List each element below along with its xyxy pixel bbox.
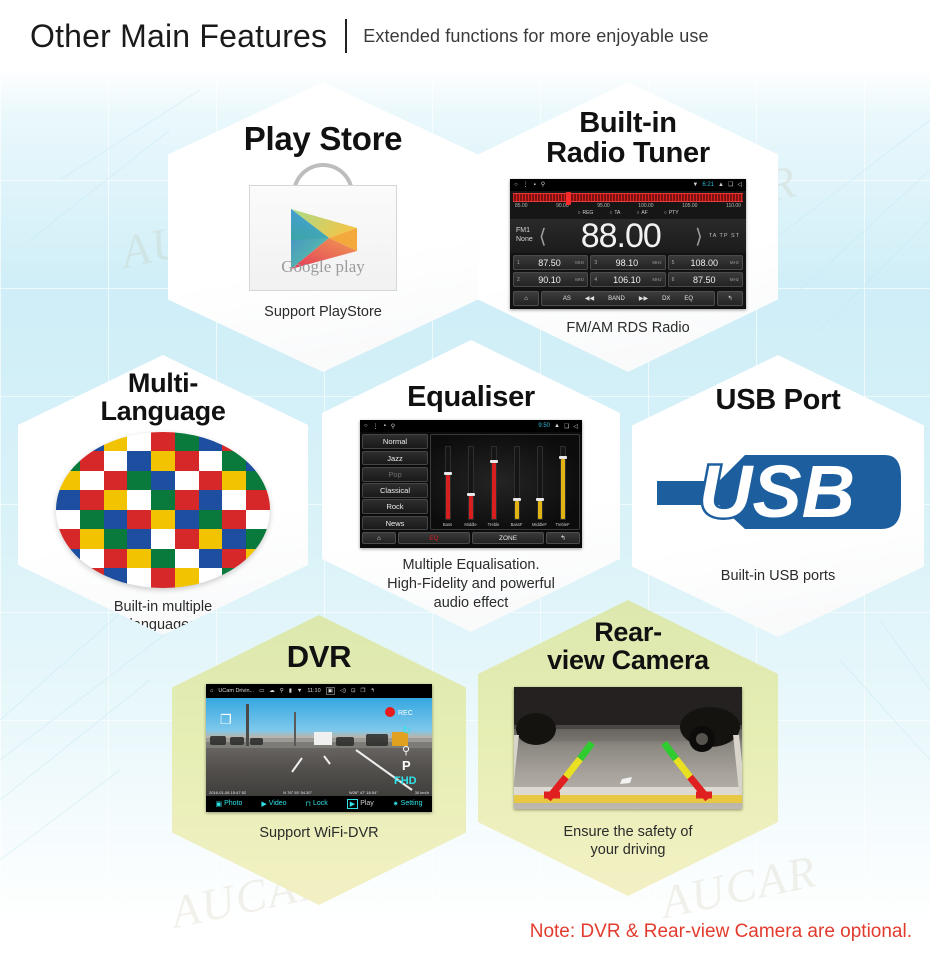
page-header: Other Main Features Extended functions f… bbox=[0, 0, 930, 72]
radio-status-bar: ○ ⋮ ▪ ⚲ ▼ 6:21 ▲ ❑ ◁ bbox=[510, 179, 746, 191]
equaliser-caption-line1: Multiple Equalisation. bbox=[387, 556, 555, 575]
sd-card-icon: ▪ bbox=[384, 423, 386, 429]
dvr-telemetry: 2016-01-08 15:47:52 N 78° 55' 54.30" W26… bbox=[209, 790, 429, 795]
back-icon[interactable]: ↰ bbox=[546, 532, 580, 544]
radio-title-line1: Built-in bbox=[546, 108, 710, 138]
rec-label: REC bbox=[398, 710, 413, 717]
dx-button[interactable]: DX bbox=[662, 296, 670, 302]
eq-preset-news[interactable]: News bbox=[362, 516, 428, 531]
eq-preset-jazz[interactable]: Jazz bbox=[362, 451, 428, 466]
sd-card-icon: ▪ bbox=[534, 182, 536, 188]
dvr-setting-label: Setting bbox=[401, 800, 423, 807]
preset-index: 4 bbox=[594, 277, 601, 283]
radio-title: Built-in Radio Tuner bbox=[546, 108, 710, 169]
rear-camera-title-line2: view Camera bbox=[547, 646, 709, 674]
menu-dots-icon: ⋮ bbox=[523, 181, 529, 188]
home-icon[interactable]: ⌂ bbox=[362, 532, 396, 544]
dvr-video-label: Video bbox=[269, 800, 287, 807]
preset-button[interactable]: 4 106.10 MHz bbox=[590, 272, 665, 287]
eq-slider-fill bbox=[446, 475, 450, 520]
park-mode-label: P bbox=[402, 758, 411, 773]
eq-slider[interactable]: Bass bbox=[442, 446, 453, 527]
back-nav-icon: ◁ bbox=[573, 423, 578, 430]
eq-slider-knob[interactable] bbox=[513, 498, 521, 501]
dvr-top-bar[interactable]: ⌂ UCam Drivin... ▭ ☁ ⚲ ▮ ▼ 11:10 ▣ ◁) ⊡ … bbox=[206, 684, 432, 698]
play-store-title: Play Store bbox=[244, 122, 402, 157]
radio-caption: FM/AM RDS Radio bbox=[566, 319, 689, 338]
footer-note: Note: DVR & Rear-view Camera are optiona… bbox=[530, 921, 912, 943]
usb-wordmark: USB bbox=[699, 450, 855, 533]
bluetooth-icon: ⚲ bbox=[391, 423, 395, 430]
preset-value: 87.50 bbox=[679, 275, 730, 285]
eq-slider[interactable]: BassF bbox=[511, 446, 522, 527]
feature-card-equaliser[interactable]: Equaliser ○ ⋮ ▪ ⚲ 9:50 ▲ ❑ ◁ Normal Jazz… bbox=[322, 340, 620, 632]
dvr-lock-label: Lock bbox=[313, 800, 328, 807]
preset-index: 5 bbox=[672, 260, 679, 266]
rear-camera-scene bbox=[514, 687, 742, 809]
recent-apps-icon: ❑ bbox=[564, 423, 569, 430]
parked-car-left bbox=[516, 713, 556, 745]
feature-card-rear-camera[interactable]: Rear- view Camera bbox=[478, 600, 778, 896]
multi-language-title: Multi- Language bbox=[100, 369, 225, 426]
usb-port-title: USB Port bbox=[716, 385, 841, 415]
google-play-wordmark: Google play bbox=[245, 257, 401, 277]
equaliser-clock: 9:50 bbox=[538, 423, 550, 429]
radio-station-name: None bbox=[516, 236, 533, 245]
equaliser-caption-line3: audio effect bbox=[387, 594, 555, 613]
eq-slider-label: BassF bbox=[511, 522, 523, 527]
radio-toolbar-center[interactable]: AS ◀◀ BAND ▶▶ DX EQ bbox=[541, 291, 715, 306]
dvr-play-label: Play bbox=[360, 800, 374, 807]
radio-band-info: FM1 None bbox=[516, 227, 533, 245]
circle-icon: ○ bbox=[364, 423, 368, 429]
scale-label: 95.00 bbox=[597, 203, 610, 209]
dvr-photo-button[interactable]: ▣ Photo bbox=[215, 800, 242, 808]
dvr-photo-label: Photo bbox=[224, 800, 242, 807]
flag-globe-icon bbox=[56, 432, 270, 588]
band-button[interactable]: BAND bbox=[608, 296, 625, 302]
rds-option-ta[interactable]: TA bbox=[609, 210, 620, 216]
multi-language-caption-line2: languages bbox=[114, 616, 212, 635]
back-icon[interactable]: ↰ bbox=[717, 291, 743, 306]
back-nav-icon: ◁ bbox=[737, 181, 742, 188]
preset-value: 87.50 bbox=[524, 258, 575, 268]
eq-button[interactable]: EQ bbox=[684, 296, 693, 302]
eq-slider-knob[interactable] bbox=[444, 472, 452, 475]
equaliser-toolbar[interactable]: ⌂ EQ ZONE ↰ bbox=[360, 532, 582, 546]
video-icon: ▶ bbox=[261, 800, 266, 808]
eq-slider-fill bbox=[492, 463, 496, 519]
up-arrow-icon: ▲ bbox=[718, 182, 724, 188]
camera-icon: ▣ bbox=[215, 800, 222, 808]
feature-card-play-store[interactable]: Play Store bbox=[168, 82, 478, 372]
mic-icon: ⚲ bbox=[280, 688, 284, 694]
prev-station-icon[interactable]: ◀◀ bbox=[585, 295, 594, 302]
preset-unit: MHz bbox=[575, 260, 584, 265]
radio-frequency-display: FM1 None ⟨ 88.00 ⟩ TA TP ST bbox=[510, 219, 746, 254]
rds-option-reg[interactable]: REG bbox=[577, 210, 593, 216]
loop-record-icon: ↻ bbox=[402, 725, 411, 737]
zone-tab-button[interactable]: ZONE bbox=[472, 532, 544, 544]
back-icon[interactable]: ↰ bbox=[370, 688, 375, 694]
lock-icon: ⊓ bbox=[306, 800, 311, 808]
up-arrow-icon: ▲ bbox=[554, 423, 560, 429]
play-icon: ▶ bbox=[347, 799, 358, 809]
eq-slider-fill bbox=[469, 496, 473, 520]
scale-bar[interactable] bbox=[513, 193, 743, 202]
mic-record-icon: ⚲ bbox=[402, 745, 410, 757]
scale-label: 100.00 bbox=[638, 203, 653, 209]
scale-number-row: 85.00 90.00 95.00 100.00 105.00 110.00 bbox=[513, 202, 743, 209]
feature-card-radio[interactable]: Built-in Radio Tuner ○ ⋮ ▪ ⚲ ▼ 6:21 ▲ ❑ … bbox=[478, 82, 778, 372]
home-icon[interactable]: ⌂ bbox=[210, 688, 213, 694]
eq-slider-fill bbox=[561, 459, 565, 519]
tune-down-icon[interactable]: ⟨ bbox=[539, 224, 547, 249]
equaliser-status-right: 9:50 ▲ ❑ ◁ bbox=[538, 423, 578, 430]
preset-button[interactable]: 5 108.00 MHz bbox=[668, 255, 743, 270]
eq-slider-label: Middle bbox=[464, 522, 476, 527]
wifi-icon: ▼ bbox=[692, 182, 698, 188]
scale-label: 110.00 bbox=[726, 203, 741, 209]
eq-slider-label: Bass bbox=[443, 522, 452, 527]
feature-card-usb-port[interactable]: USB Port USB Built-in USB ports bbox=[632, 355, 924, 637]
radio-preset-grid[interactable]: 1 87.50 MHz 3 98.10 MHz 5 108.00 MHz 2 9… bbox=[510, 253, 746, 289]
equaliser-caption: Multiple Equalisation. High-Fidelity and… bbox=[387, 556, 555, 612]
rec-indicator-dot bbox=[385, 707, 395, 717]
usb-logo-svg: USB bbox=[649, 437, 907, 549]
feature-card-dvr[interactable]: DVR ⌂ UCam Drivin... ▭ ☁ ⚲ ▮ ▼ 11:10 ▣ ◁… bbox=[172, 615, 466, 905]
cloud-icon: ☁ bbox=[269, 688, 275, 694]
equaliser-status-bar: ○ ⋮ ▪ ⚲ 9:50 ▲ ❑ ◁ bbox=[360, 420, 582, 432]
play-store-bag-icon: Google play bbox=[245, 163, 401, 291]
radio-frequency-value: 88.00 bbox=[553, 221, 689, 252]
eq-slider-knob[interactable] bbox=[536, 498, 544, 501]
eq-slider-label: TrebleF bbox=[555, 522, 569, 527]
eq-slider[interactable]: MiddleF bbox=[534, 446, 545, 527]
gear-icon: ✷ bbox=[393, 800, 399, 808]
dvr-clock: 11:10 bbox=[307, 688, 320, 694]
preset-value: 98.10 bbox=[601, 258, 652, 268]
dvr-caption: Support WiFi-DVR bbox=[259, 824, 378, 843]
circle-icon: ○ bbox=[514, 182, 518, 188]
eq-preset-rock[interactable]: Rock bbox=[362, 499, 428, 514]
gallery-icon[interactable]: ❐ bbox=[361, 688, 366, 694]
bluetooth-icon: ⚲ bbox=[541, 181, 545, 188]
preset-index: 1 bbox=[517, 260, 524, 266]
preset-value: 90.10 bbox=[524, 275, 575, 285]
rear-camera-title-line1: Rear- bbox=[547, 618, 709, 646]
pip-window-icon: ❐ bbox=[220, 712, 232, 727]
radio-band: FM1 bbox=[516, 227, 533, 236]
rear-camera-title: Rear- view Camera bbox=[547, 618, 709, 675]
preset-value: 106.10 bbox=[601, 275, 652, 285]
preset-unit: MHz bbox=[652, 260, 661, 265]
preset-button[interactable]: 1 87.50 MHz bbox=[513, 255, 588, 270]
preset-index: 2 bbox=[517, 277, 524, 283]
flag-grid bbox=[56, 432, 270, 588]
usb-port-caption: Built-in USB ports bbox=[721, 567, 835, 586]
eq-slider-fill bbox=[515, 501, 519, 520]
dvr-play-button[interactable]: ▶ Play bbox=[347, 799, 374, 809]
equaliser-app-screen[interactable]: ○ ⋮ ▪ ⚲ 9:50 ▲ ❑ ◁ Normal Jazz Pop Class… bbox=[360, 420, 582, 548]
screenshot-icon[interactable]: ⊡ bbox=[351, 688, 356, 694]
recent-apps-icon: ❑ bbox=[728, 181, 733, 188]
dvr-title: DVR bbox=[287, 641, 352, 674]
dvr-gps-lon: W26° 47' 18.54" bbox=[349, 790, 378, 795]
scale-label: 85.00 bbox=[515, 203, 528, 209]
page-title: Other Main Features bbox=[30, 18, 327, 55]
eq-slider-knob[interactable] bbox=[559, 456, 567, 459]
multi-language-caption-line1: Built-in multiple bbox=[114, 598, 212, 617]
radio-title-line2: Radio Tuner bbox=[546, 138, 710, 168]
eq-tab-button[interactable]: EQ bbox=[398, 532, 470, 544]
scale-needle[interactable] bbox=[566, 192, 571, 205]
preset-unit: MHz bbox=[730, 277, 739, 282]
equaliser-title: Equaliser bbox=[407, 382, 535, 412]
home-icon[interactable]: ⌂ bbox=[513, 291, 539, 306]
equaliser-slider-group[interactable]: Bass Middle Treble bbox=[430, 434, 580, 530]
dvr-speed: 30 km/h bbox=[415, 790, 429, 795]
sd-icon: ▭ bbox=[259, 688, 264, 694]
preset-button[interactable]: 6 87.50 MHz bbox=[668, 272, 743, 287]
dvr-app-title: UCam Drivin... bbox=[218, 688, 254, 694]
next-station-icon[interactable]: ▶▶ bbox=[639, 295, 648, 302]
rear-camera-caption-line1: Ensure the safety of bbox=[564, 823, 693, 842]
eq-slider-label: Treble bbox=[488, 522, 500, 527]
dvr-camera-view: REC ↻ ⚲ P FHD ❐ 2016-01-08 15:47:52 N 78… bbox=[206, 698, 432, 796]
dvr-lock-button[interactable]: ⊓ Lock bbox=[306, 800, 328, 808]
preset-unit: MHz bbox=[575, 277, 584, 282]
dvr-bottom-toolbar[interactable]: ▣ Photo ▶ Video ⊓ Lock ▶ Play ✷ Setting bbox=[206, 796, 432, 812]
play-store-caption: Support PlayStore bbox=[264, 303, 382, 322]
auto-store-button[interactable]: AS bbox=[563, 296, 571, 302]
preset-value: 108.00 bbox=[679, 258, 730, 268]
radio-app-screen[interactable]: ○ ⋮ ▪ ⚲ ▼ 6:21 ▲ ❑ ◁ 85.00 90.00 95.00 1… bbox=[510, 179, 746, 309]
rear-camera-caption-line2: your driving bbox=[564, 841, 693, 860]
sound-icon[interactable]: ◁) bbox=[340, 688, 346, 694]
eq-slider-label: MiddleF bbox=[532, 522, 547, 527]
eq-slider-knob[interactable] bbox=[467, 493, 475, 496]
multi-language-title-line2: Language bbox=[100, 397, 225, 425]
preset-unit: MHz bbox=[730, 260, 739, 265]
rear-camera-view bbox=[514, 687, 742, 809]
radio-frequency-scale[interactable]: 85.00 90.00 95.00 100.00 105.00 110.00 R… bbox=[510, 191, 746, 219]
dvr-scene-overlay: REC ↻ ⚲ P FHD ❐ bbox=[206, 698, 432, 796]
rds-indicators: TA TP ST bbox=[709, 233, 740, 239]
eq-slider[interactable]: Treble bbox=[488, 446, 499, 527]
dvr-timestamp: 2016-01-08 15:47:52 bbox=[209, 790, 246, 795]
wifi-icon: ▼ bbox=[297, 688, 302, 694]
preset-button[interactable]: 3 98.10 MHz bbox=[590, 255, 665, 270]
eq-preset-pop[interactable]: Pop bbox=[362, 467, 428, 482]
rear-camera-caption: Ensure the safety of your driving bbox=[564, 823, 693, 860]
preset-unit: MHz bbox=[652, 277, 661, 282]
header-divider bbox=[345, 19, 347, 53]
rds-option-pty[interactable]: PTY bbox=[664, 210, 679, 216]
eq-slider[interactable]: Middle bbox=[465, 446, 476, 527]
ground-marking bbox=[620, 777, 632, 784]
eq-slider-fill bbox=[538, 501, 542, 520]
quality-label: FHD bbox=[394, 775, 417, 787]
camera-mode-icon[interactable]: ▣ bbox=[326, 687, 335, 695]
eq-preset-normal[interactable]: Normal bbox=[362, 434, 428, 449]
equaliser-body: Normal Jazz Pop Classical Rock News Bass bbox=[360, 432, 582, 532]
dvr-setting-button[interactable]: ✷ Setting bbox=[393, 800, 423, 808]
equaliser-preset-list[interactable]: Normal Jazz Pop Classical Rock News bbox=[362, 434, 428, 530]
eq-slider[interactable]: TrebleF bbox=[557, 446, 568, 527]
tune-up-icon[interactable]: ⟩ bbox=[695, 224, 703, 249]
eq-slider-knob[interactable] bbox=[490, 460, 498, 463]
radio-toolbar[interactable]: ⌂ AS ◀◀ BAND ▶▶ DX EQ ↰ bbox=[510, 289, 746, 308]
dvr-gps-lat: N 78° 55' 54.30" bbox=[283, 790, 312, 795]
eq-preset-classical[interactable]: Classical bbox=[362, 483, 428, 498]
multi-language-caption: Built-in multiple languages bbox=[114, 598, 212, 635]
usb-logo-icon: USB bbox=[649, 437, 907, 549]
rds-option-af[interactable]: AF bbox=[636, 210, 647, 216]
battery-icon: ▮ bbox=[289, 688, 292, 694]
menu-dots-icon: ⋮ bbox=[373, 423, 379, 430]
multi-language-title-line1: Multi- bbox=[100, 369, 225, 397]
dvr-app-screen[interactable]: ⌂ UCam Drivin... ▭ ☁ ⚲ ▮ ▼ 11:10 ▣ ◁) ⊡ … bbox=[206, 684, 432, 812]
preset-button[interactable]: 2 90.10 MHz bbox=[513, 272, 588, 287]
page-subtitle: Extended functions for more enjoyable us… bbox=[363, 26, 708, 47]
preset-index: 3 bbox=[594, 260, 601, 266]
radio-status-right: ▼ 6:21 ▲ ❑ ◁ bbox=[692, 181, 742, 188]
equaliser-caption-line2: High-Fidelity and powerful bbox=[387, 575, 555, 594]
dvr-video-button[interactable]: ▶ Video bbox=[261, 800, 286, 808]
feature-card-multi-language[interactable]: Multi- Language Built-in multiple langua… bbox=[18, 355, 308, 635]
radio-clock: 6:21 bbox=[702, 182, 714, 188]
scale-label: 105.00 bbox=[682, 203, 697, 209]
preset-index: 6 bbox=[672, 277, 679, 283]
